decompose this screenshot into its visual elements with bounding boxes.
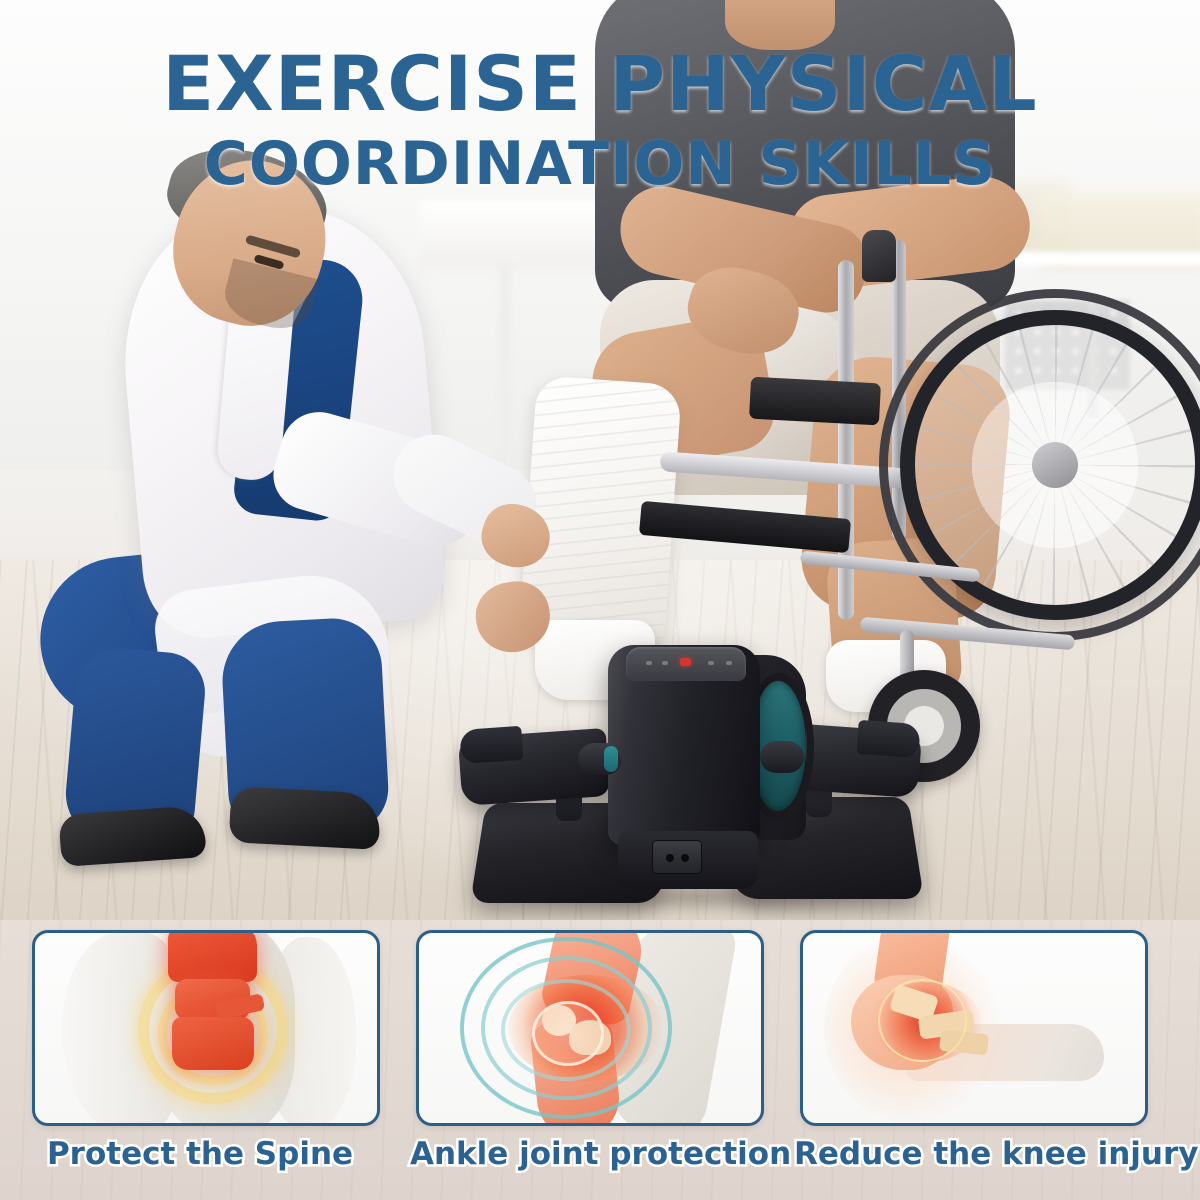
vertebra-upper <box>168 930 257 982</box>
device-power-socket <box>652 840 702 874</box>
device-crank-axle-right <box>760 741 804 773</box>
benefit-caption-spine: Protect the Spine <box>26 1136 374 1172</box>
device-panel-marker-1 <box>646 661 652 665</box>
device-panel-marker-3 <box>708 661 714 665</box>
benefit-caption-ankle: Ankle joint protection <box>410 1136 758 1172</box>
benefits-strip: Protect the Spine Ankle joint protection… <box>0 920 1200 1200</box>
benefit-caption-knee: Reduce the knee injury <box>794 1136 1142 1172</box>
wheelchair-wheel-hub <box>1032 442 1078 488</box>
device-crank-axle-left <box>578 743 622 775</box>
wheelchair-arm-post <box>862 230 896 282</box>
spine-illustration <box>35 933 377 1123</box>
therapist-shoe-left <box>58 805 206 867</box>
knee-pulse-ring-inner <box>501 979 631 1082</box>
therapist-shoe-right <box>229 786 382 850</box>
patient-neck <box>725 0 835 50</box>
hero-photo-scene <box>0 0 1200 935</box>
benefit-card-spine[interactable] <box>32 930 380 1126</box>
device-panel-marker-4 <box>726 661 732 665</box>
pedal-exerciser-device <box>440 625 940 925</box>
product-marketing-poster: EXERCISE PHYSICAL COORDINATION SKILLS <box>0 0 1200 1200</box>
power-indicator-icon <box>680 658 691 666</box>
ankle-focus-circle <box>878 979 967 1063</box>
wheelchair-armrest <box>749 377 881 426</box>
knee-illustration <box>419 933 761 1123</box>
benefit-cards-row: Protect the Spine Ankle joint protection… <box>32 930 1168 1200</box>
ankle-illustration <box>803 933 1145 1123</box>
wheelchair-seat-bar <box>660 451 911 488</box>
vertebra-lower <box>172 1017 254 1070</box>
wheelchair-footplate <box>639 501 851 553</box>
benefit-card-ankle[interactable] <box>800 930 1148 1126</box>
device-panel-marker-2 <box>662 661 668 665</box>
benefit-card-knee[interactable] <box>416 930 764 1126</box>
